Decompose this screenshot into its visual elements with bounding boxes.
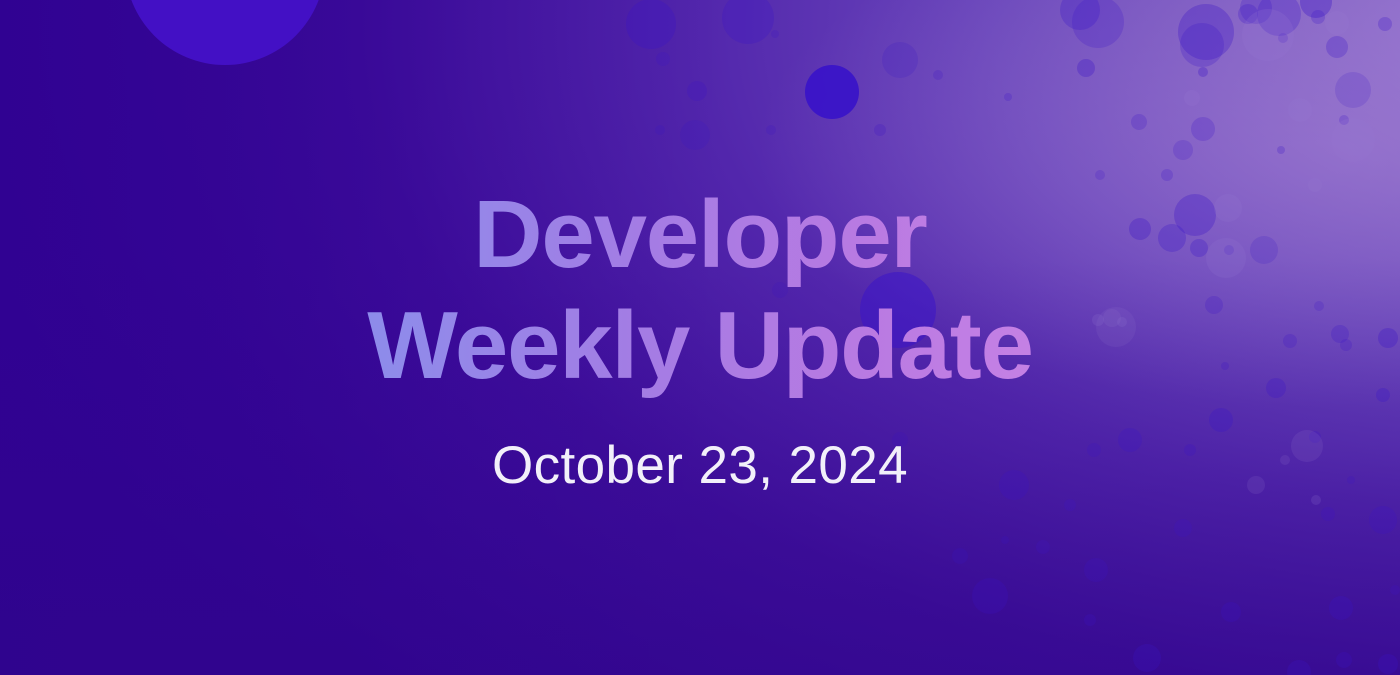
slide-content: Developer Weekly Update October 23, 2024 bbox=[0, 0, 1400, 675]
slide-date: October 23, 2024 bbox=[492, 435, 908, 496]
title-line-two: Weekly Update bbox=[0, 290, 1400, 401]
title-line-one: Developer bbox=[0, 179, 1400, 290]
weekly-update-slide: Developer Weekly Update October 23, 2024 bbox=[0, 0, 1400, 675]
title-block: Developer Weekly Update bbox=[0, 179, 1400, 402]
